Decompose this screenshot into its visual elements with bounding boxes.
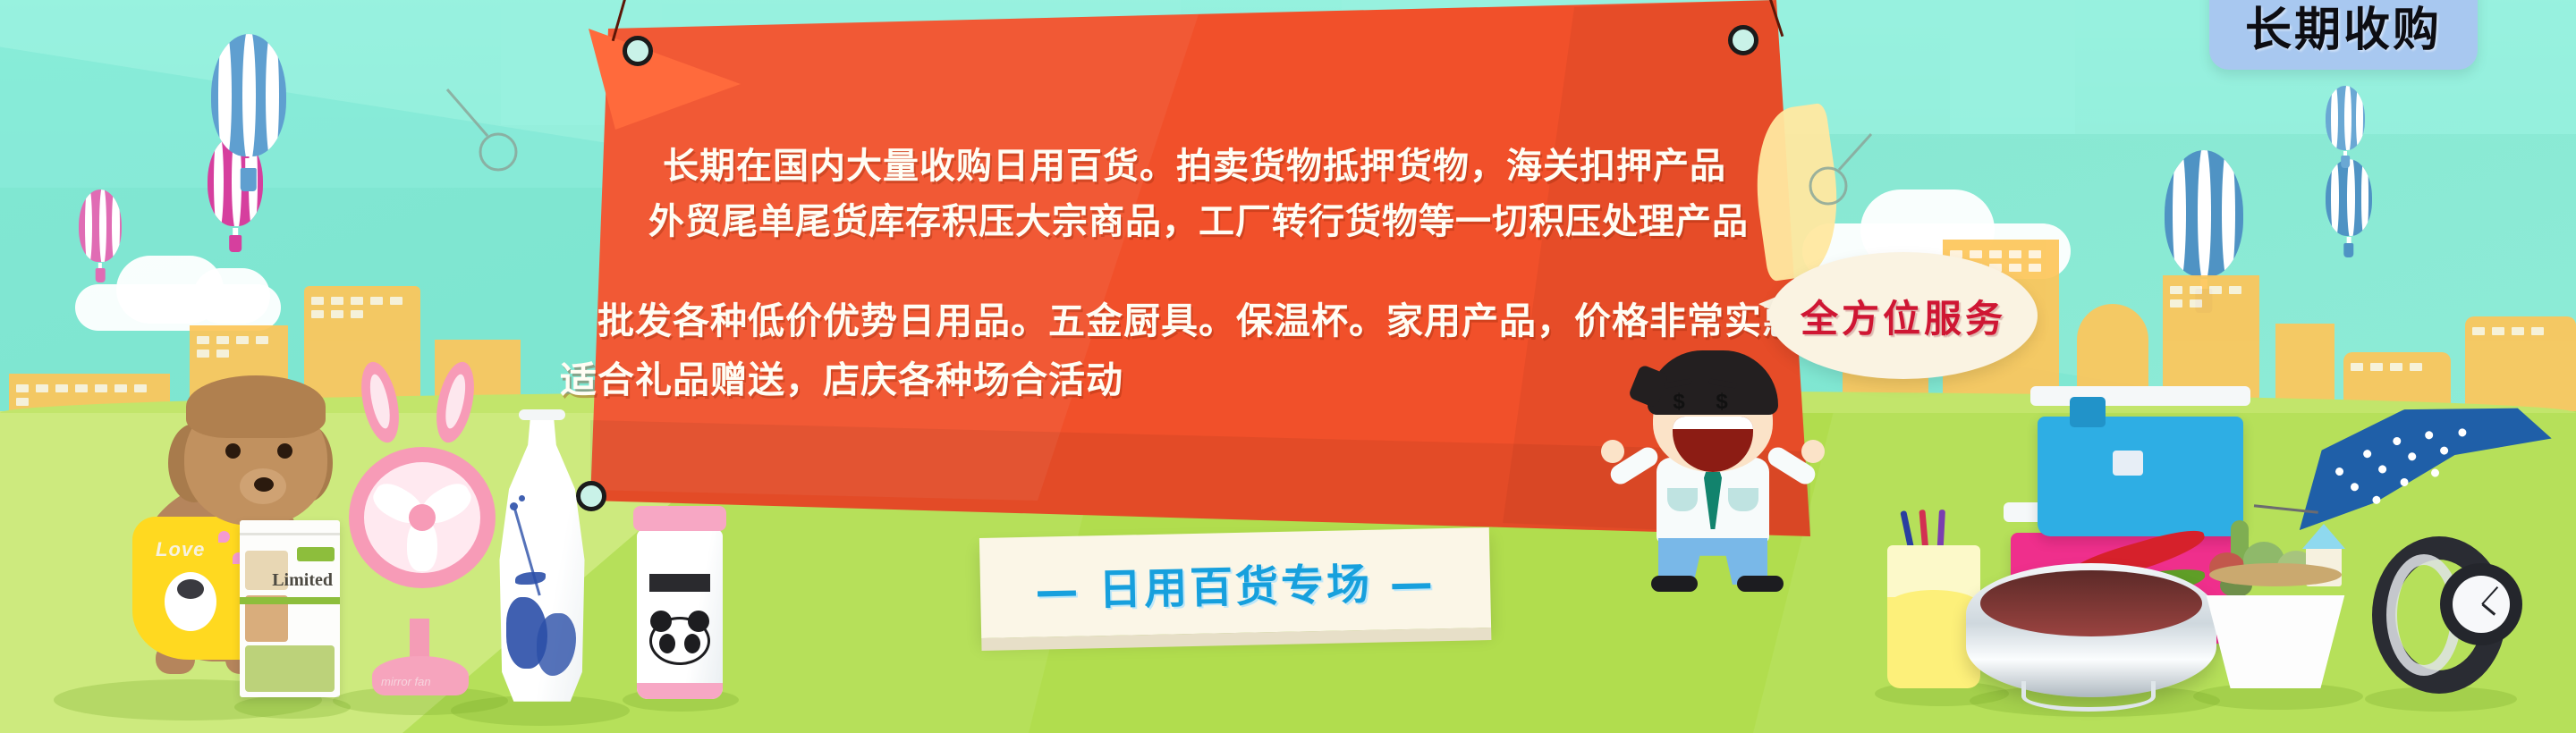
pot-body [1966, 563, 2216, 697]
product-stainless-pot[interactable] [1966, 536, 2225, 697]
fan-neck [410, 619, 429, 661]
fan-brand-text: mirror fan [381, 675, 431, 688]
long-term-purchase-badge[interactable]: 长期收购 [2209, 0, 2478, 70]
thermos-body [637, 529, 723, 699]
fan-hub [409, 504, 436, 531]
category-sign[interactable]: — 日用百货专场 — [979, 527, 1491, 638]
watch-dial [2453, 576, 2510, 633]
badge-label: 长期收购 [2245, 0, 2442, 59]
panda-eye-left [659, 634, 675, 653]
panda-ear-right [688, 611, 709, 632]
fan-base: mirror fan [372, 656, 469, 695]
bag-brand-label: Limited [247, 570, 333, 591]
banner-grommet-right [1728, 25, 1758, 55]
panda-eye-right [684, 634, 700, 653]
product-panda-thermos[interactable] [637, 520, 723, 699]
thermos-lid [633, 506, 726, 531]
bag-green-tab [297, 547, 335, 561]
banner-line-4: 适合礼品赠送，店庆各种场合活动 [560, 351, 1762, 410]
pocket-right [1728, 488, 1758, 511]
product-storage-bin-blue[interactable] [2038, 402, 2243, 536]
bin-blue-sticker [2113, 451, 2143, 476]
pocket-left [1667, 488, 1698, 511]
dollar-eye-right: $ [1710, 390, 1733, 411]
pot-handle [2021, 681, 2156, 712]
fan-housing [349, 447, 496, 588]
bin-blue-body [2038, 417, 2243, 536]
thermos-brand-label [649, 574, 710, 592]
banner-line-1: 长期在国内大量收购日用百货。拍卖货物抵押货物，海关扣押产品 [663, 139, 1763, 194]
bin-blue-clip [2070, 397, 2106, 427]
product-wristwatch[interactable] [2372, 536, 2506, 694]
dog-head-fluff [186, 375, 326, 438]
dollar-eye-left: $ [1667, 390, 1690, 411]
banner-line-3: 批发各种低价优势日用品。五金厨具。保温杯。家用产品，价格非常实惠 [597, 292, 1800, 351]
watch-case [2440, 563, 2522, 645]
dog-shirt-text: Love [156, 538, 205, 561]
sign-label: — 日用百货专场 — [1035, 547, 1436, 618]
shirt-heart-1 [218, 531, 230, 543]
dog-nose [254, 477, 274, 492]
bag-top-band [240, 533, 340, 535]
thermos-base [637, 683, 723, 699]
product-dog-food-bag[interactable]: Limited [240, 520, 340, 697]
watch-hand-minute [2481, 586, 2498, 605]
panda-ear-left [650, 611, 672, 632]
dog-eye-left [225, 443, 241, 459]
banner-canvas: 长期在国内大量收购日用百货。拍卖货物抵押货物，海关扣押产品 外贸尾单尾货库存积压… [0, 0, 2576, 733]
panda-graphic [649, 617, 710, 665]
banner-paragraph-1: 长期在国内大量收购日用百货。拍卖货物抵押货物，海关扣押产品 外贸尾单尾货库存积压… [648, 139, 1749, 249]
pot-interior [1980, 570, 2202, 636]
bag-food-photo [245, 645, 335, 692]
planter-pot [2200, 595, 2351, 688]
necktie [1704, 467, 1722, 529]
shoe-left [1651, 576, 1698, 592]
shoe-right [1737, 576, 1784, 592]
teeth [1673, 417, 1753, 429]
vase-flower-1 [510, 502, 518, 510]
hand-right [1801, 440, 1825, 463]
banner-grommet-left [623, 36, 653, 66]
bag-mid-band [240, 597, 340, 604]
bin-blue-lid [2030, 386, 2250, 406]
bubble-label: 全方位服务 [1801, 289, 2006, 343]
shirt-graphic [165, 572, 216, 631]
umbrella-dot [2430, 468, 2441, 478]
hand-left [1601, 440, 1624, 463]
vase-flower-2 [519, 495, 525, 501]
product-succulent-planter[interactable] [2200, 572, 2361, 688]
cartoon-salesman: $ $ [1601, 350, 1825, 592]
balloon-blue-right-3 [2326, 86, 2365, 168]
vase-rim [519, 409, 565, 420]
dog-eye-right [277, 443, 292, 459]
balloon-blue-big [211, 34, 286, 191]
watch-hand-hour [2482, 603, 2496, 616]
banner-line-2: 外贸尾单尾货库存积压大宗商品，工厂转行货物等一切积压处理产品 [648, 194, 1749, 249]
product-porcelain-vase[interactable] [483, 409, 601, 713]
